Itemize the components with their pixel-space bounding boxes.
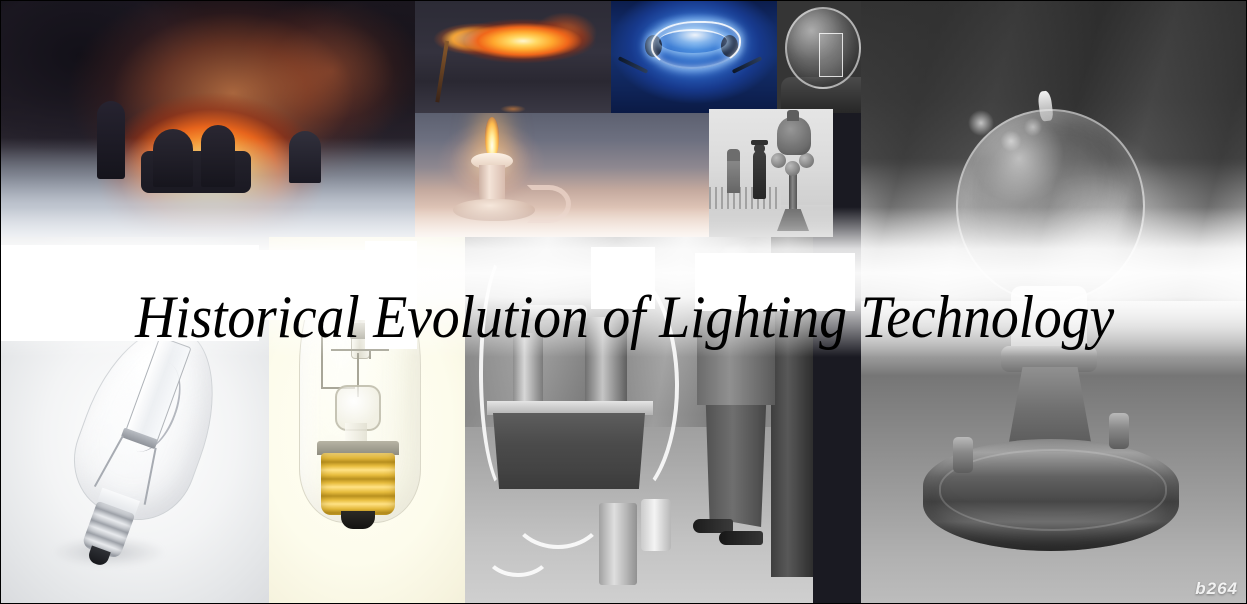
gas-lamp-globe-left	[771, 153, 786, 168]
campfire-figure-seated-left	[153, 129, 193, 187]
campfire-figure-far	[289, 131, 321, 183]
campfire-figure-seated-right	[201, 125, 235, 187]
candle-holder-base	[453, 199, 535, 221]
bridge-statue	[727, 149, 740, 161]
bridge-balustrade	[709, 187, 781, 209]
arc-discharge-bolt-secondary	[659, 29, 727, 53]
gas-lamp-globe-centre	[785, 161, 800, 176]
campfire-figure-standing	[97, 101, 125, 179]
hps-arc-tube-end-cap	[350, 323, 369, 339]
hps-base-contact-tip	[341, 511, 375, 529]
rubber-hose-left	[479, 249, 539, 497]
gas-lamp-finial	[787, 110, 799, 121]
hps-support-strut	[369, 341, 371, 359]
hps-lead-wire-left	[321, 257, 323, 389]
archive-negative-number: b264	[1195, 579, 1238, 599]
lighting-history-banner: b264	[0, 0, 1247, 604]
image-tile-bonfire	[1, 1, 415, 237]
arc-electrode-rod-right	[732, 56, 763, 74]
edison-bulb-filament-mount	[819, 33, 843, 77]
laboratory-curtain	[771, 237, 813, 577]
image-tile-torch-flame	[415, 1, 611, 113]
candle-stem	[479, 165, 505, 203]
image-tile-sodium-lamp	[269, 237, 465, 604]
arc-electrode-rod-left	[618, 56, 649, 74]
image-tile-vacuum-pump-laboratory	[465, 237, 813, 604]
gas-lamp-lantern	[777, 117, 811, 155]
researcher-legs	[703, 399, 769, 527]
bulb-base-groove	[939, 449, 1167, 531]
image-tile-gas-street-lamp	[709, 109, 833, 237]
hps-ceramic-arc-tube	[351, 271, 370, 359]
bridge-column	[727, 159, 740, 193]
image-tile-large-experimental-bulb: b264	[861, 1, 1247, 604]
bulb-terminal-post-right	[1109, 413, 1129, 449]
researcher-shoe-right	[719, 531, 763, 545]
lamplighter-hat	[751, 140, 768, 145]
bulb-glass-globe	[956, 109, 1145, 303]
hps-support-crossbar	[331, 349, 389, 351]
mercury-jar-small	[641, 499, 671, 551]
bulb-terminal-post-left	[953, 437, 973, 473]
bridge-deck	[709, 205, 833, 237]
candle-holder-handle	[527, 185, 571, 223]
gas-lamp-globe-right	[799, 153, 814, 168]
hps-brass-edison-screw-base	[321, 453, 395, 515]
image-tile-metal-halide-lamp	[1, 237, 269, 604]
bulb-neck	[1011, 286, 1087, 352]
researcher-suit	[697, 279, 775, 405]
rubber-hose-centre	[561, 267, 679, 505]
edison-large-glass-bulb	[785, 7, 861, 89]
lamplighter-body	[753, 151, 766, 199]
image-tile-candle	[415, 113, 709, 237]
torch-handle	[435, 41, 449, 103]
researcher-head	[717, 243, 751, 285]
candle-flame	[485, 117, 499, 157]
hid-lamp-assembly	[40, 309, 238, 585]
image-tile-electric-arc	[611, 1, 777, 113]
rubber-hose-coil	[483, 523, 553, 577]
